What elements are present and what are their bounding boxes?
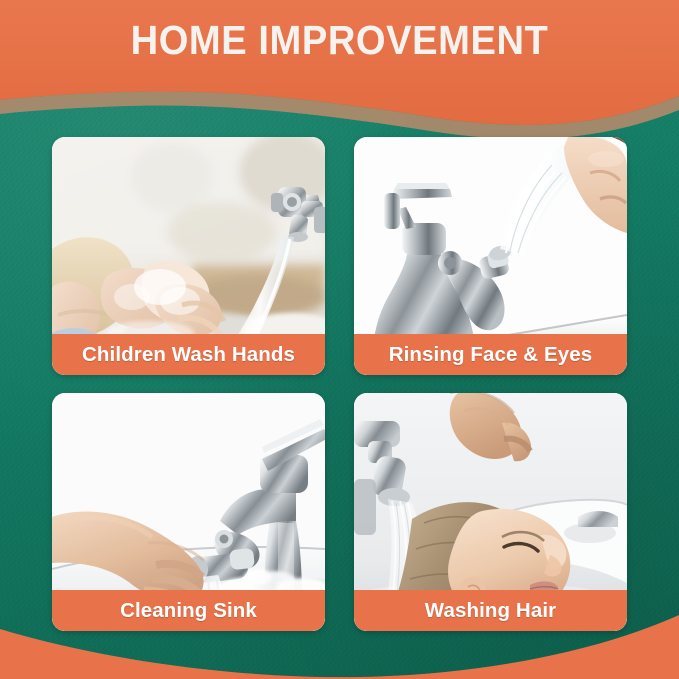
card-label-children-wash-hands: Children Wash Hands: [52, 334, 325, 375]
card-cleaning-sink[interactable]: Cleaning Sink: [52, 393, 325, 631]
card-rinsing-face-eyes[interactable]: Rinsing Face & Eyes: [354, 137, 627, 375]
page-title: HOME IMPROVEMENT: [24, 16, 655, 64]
card-label-cleaning-sink: Cleaning Sink: [52, 590, 325, 631]
card-label-rinsing-face-eyes: Rinsing Face & Eyes: [354, 334, 627, 375]
usage-scenario-grid: Children Wash Hands: [52, 137, 627, 637]
card-washing-hair[interactable]: Washing Hair: [354, 393, 627, 631]
product-infographic: HOME IMPROVEMENT: [0, 0, 679, 679]
card-label-washing-hair: Washing Hair: [354, 590, 627, 631]
card-children-wash-hands[interactable]: Children Wash Hands: [52, 137, 325, 375]
